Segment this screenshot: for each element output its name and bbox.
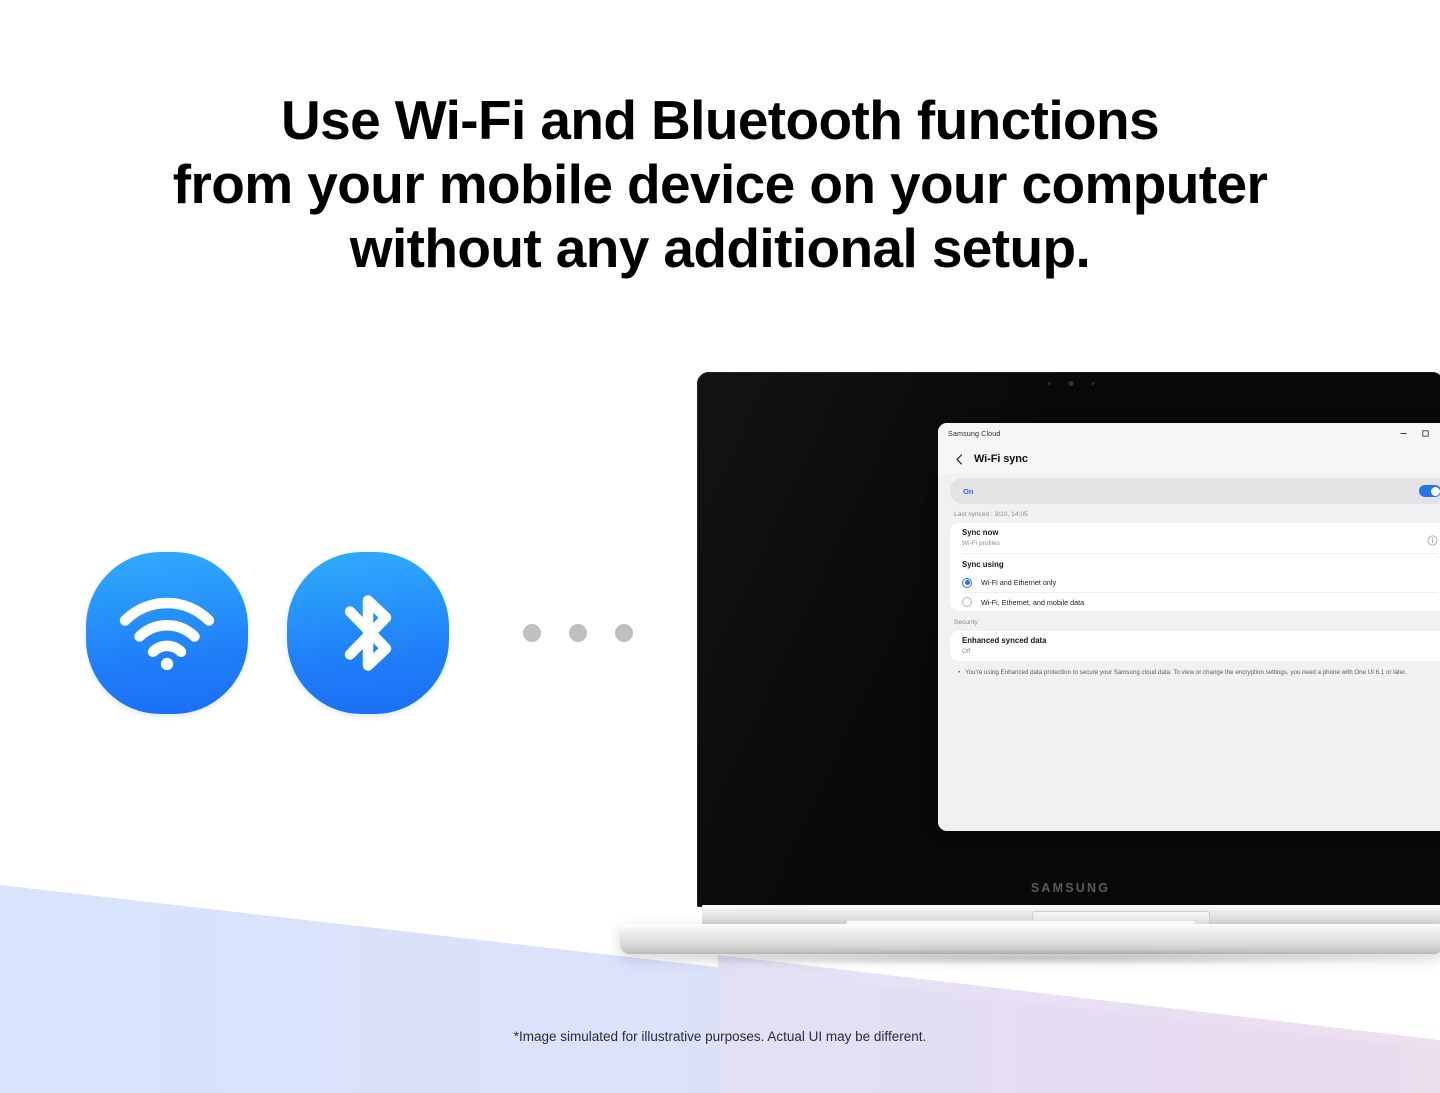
enhanced-synced-data-title: Enhanced synced data	[962, 636, 1438, 646]
sync-now-subtitle: Wi-Fi profiles	[962, 539, 1427, 548]
maximize-icon[interactable]	[1414, 424, 1436, 444]
sync-now-texts: Sync now Wi-Fi profiles	[962, 528, 1427, 548]
window-title: Samsung Cloud	[948, 429, 1392, 438]
close-icon[interactable]	[1436, 424, 1440, 444]
enhanced-synced-data-row[interactable]: Enhanced synced data Off	[962, 631, 1438, 661]
sync-using-option-wifi-ethernet[interactable]: Wi-Fi and Ethernet only	[962, 573, 1438, 592]
toggle-knob	[1431, 487, 1440, 496]
sync-now-title: Sync now	[962, 528, 1427, 538]
dot-1	[523, 624, 541, 642]
sync-using-option-mobile-data[interactable]: Wi-Fi, Ethernet, and mobile data	[962, 592, 1438, 611]
enhanced-texts: Enhanced synced data Off	[962, 636, 1438, 656]
connectivity-icon-row	[86, 552, 633, 714]
laptop-device: Samsung Cloud Wi-Fi sync	[614, 372, 1440, 957]
window-titlebar: Samsung Cloud	[938, 423, 1440, 444]
webcam-lens-icon	[1068, 381, 1073, 386]
sensor-dot-right	[1091, 382, 1094, 385]
toggle-state-label: On	[963, 487, 1419, 496]
wifi-sync-toggle[interactable]	[1419, 485, 1440, 497]
app-header: Wi-Fi sync	[938, 444, 1440, 474]
security-group-label: Security	[950, 611, 1440, 631]
samsung-cloud-window[interactable]: Samsung Cloud Wi-Fi sync	[938, 423, 1440, 831]
page-title: Use Wi-Fi and Bluetooth functions from y…	[0, 88, 1440, 280]
enhanced-synced-data-value: Off	[962, 647, 1438, 656]
bluetooth-icon	[287, 552, 449, 714]
sync-using-option-label: Wi-Fi, Ethernet, and mobile data	[981, 598, 1084, 607]
radio-unselected-icon[interactable]	[962, 597, 972, 607]
more-options-icon[interactable]	[1436, 454, 1440, 463]
wifi-icon	[86, 552, 248, 714]
sensor-dot-left	[1047, 382, 1050, 385]
sync-using-option-label: Wi-Fi and Ethernet only	[981, 578, 1056, 587]
back-chevron-icon[interactable]	[952, 452, 966, 466]
sync-now-row[interactable]: Sync now Wi-Fi profiles	[962, 523, 1438, 553]
security-card: Enhanced synced data Off	[950, 631, 1440, 661]
note-text: You're using Enhanced data protection to…	[965, 668, 1406, 677]
page-root: Use Wi-Fi and Bluetooth functions from y…	[0, 0, 1440, 1093]
radio-selected-icon[interactable]	[962, 578, 972, 588]
dot-2	[569, 624, 587, 642]
last-synced-text: Last synced : 3/10, 14:05	[950, 504, 1440, 523]
headline-line-3: without any additional setup.	[0, 216, 1440, 280]
webcam-sensors	[1047, 381, 1094, 386]
app-content: On Last synced : 3/10, 14:05 Sync now Wi…	[938, 474, 1440, 677]
sync-using-heading: Sync using	[962, 553, 1438, 573]
laptop-screen: Samsung Cloud Wi-Fi sync	[697, 372, 1440, 907]
samsung-brand-logo: SAMSUNG	[1031, 881, 1110, 895]
note-bullet-icon: •	[958, 668, 960, 677]
disclaimer-footnote: *Image simulated for illustrative purpos…	[0, 1029, 1440, 1044]
headline-line-2: from your mobile device on your computer	[0, 152, 1440, 216]
minimize-icon[interactable]	[1392, 424, 1414, 444]
laptop-shadow	[644, 950, 1434, 966]
app-title: Wi-Fi sync	[974, 453, 1436, 465]
wifi-sync-toggle-row[interactable]: On	[950, 478, 1440, 504]
info-icon[interactable]	[1427, 533, 1438, 544]
sync-settings-card: Sync now Wi-Fi profiles	[950, 523, 1440, 611]
security-note: • You're using Enhanced data protection …	[950, 661, 1440, 677]
headline-line-1: Use Wi-Fi and Bluetooth functions	[0, 88, 1440, 152]
